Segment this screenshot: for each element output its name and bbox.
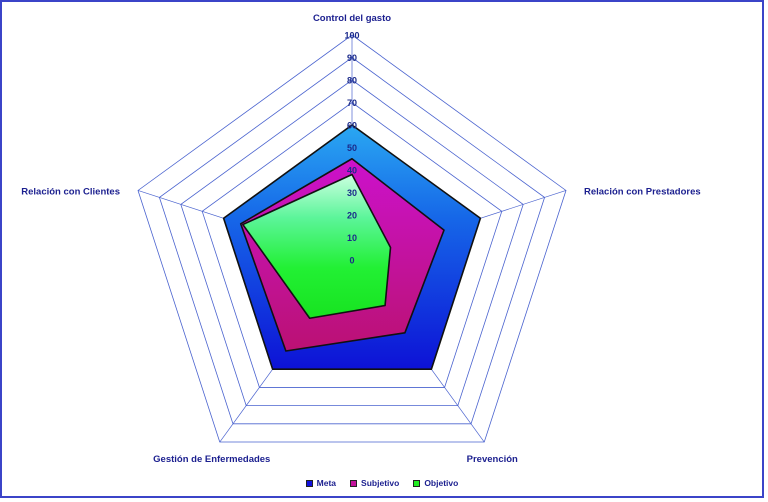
radial-tick-70: 70 [347, 98, 357, 108]
legend-label: Subjetivo [361, 478, 399, 488]
legend-label: Objetivo [424, 478, 458, 488]
radial-tick-100: 100 [344, 31, 359, 41]
axis-label-prevención: Prevención [467, 454, 518, 465]
radar-series [224, 125, 481, 369]
radial-tick-0: 0 [349, 256, 354, 266]
radar-chart: 0102030405060708090100 Control del gasto… [2, 2, 766, 500]
legend-item-subjetivo[interactable]: Subjetivo [350, 478, 399, 488]
radial-tick-80: 80 [347, 76, 357, 86]
legend-item-meta[interactable]: Meta [306, 478, 336, 488]
radial-tick-90: 90 [347, 53, 357, 63]
legend-swatch-icon [306, 480, 313, 487]
radial-tick-10: 10 [347, 233, 357, 243]
axis-label-relación-con-clientes: Relación con Clientes [21, 186, 120, 197]
legend-label: Meta [317, 478, 336, 488]
radial-tick-40: 40 [347, 166, 357, 176]
radial-tick-50: 50 [347, 143, 357, 153]
axis-label-relación-con-prestadores: Relación con Prestadores [584, 186, 701, 197]
axis-label-gestión-de-enfermedades: Gestión de Enfermedades [153, 454, 270, 465]
axis-label-control-del-gasto: Control del gasto [313, 13, 391, 24]
radial-tick-20: 20 [347, 211, 357, 221]
legend-swatch-icon [413, 480, 420, 487]
chart-legend: MetaSubjetivoObjetivo [2, 478, 762, 488]
legend-item-objetivo[interactable]: Objetivo [413, 478, 458, 488]
chart-frame: 0102030405060708090100 Control del gasto… [0, 0, 764, 498]
radial-tick-30: 30 [347, 188, 357, 198]
radial-tick-60: 60 [347, 121, 357, 131]
legend-swatch-icon [350, 480, 357, 487]
